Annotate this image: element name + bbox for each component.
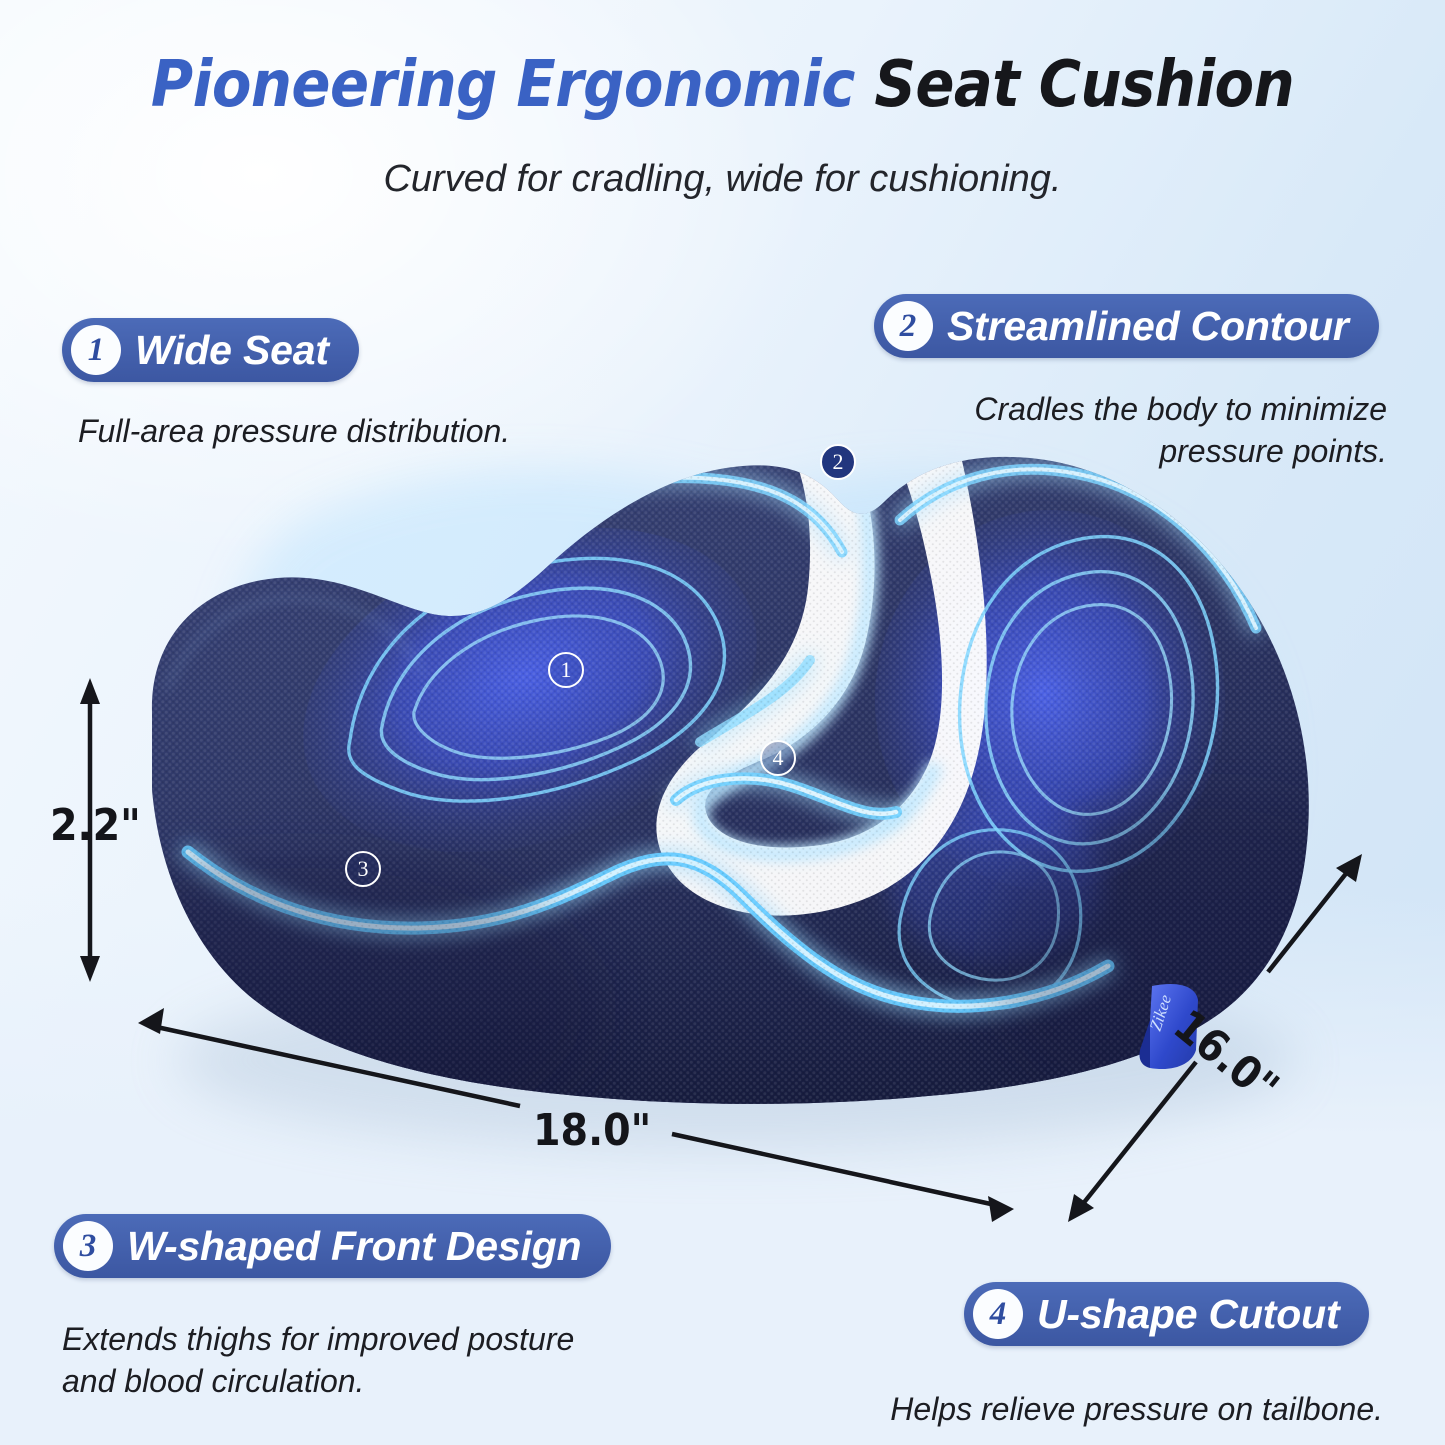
product-marker-4: 4	[760, 740, 796, 776]
page-subtitle: Curved for cradling, wide for cushioning…	[0, 158, 1445, 201]
feature-badge-1[interactable]: 1 Wide Seat	[62, 318, 359, 382]
feature-description-4: Helps relieve pressure on tailbone.	[890, 1388, 1383, 1430]
feature-badge-4[interactable]: 4 U-shape Cutout	[964, 1282, 1369, 1346]
width-dimension-label: 18.0"	[533, 1105, 651, 1156]
feature-label-1: Wide Seat	[135, 327, 329, 374]
feature-number-2: 2	[883, 301, 933, 351]
feature-number-4: 4	[973, 1289, 1023, 1339]
feature-description-3: Extends thighs for improved posture and …	[62, 1318, 574, 1402]
feature-description-2: Cradles the body to minimize pressure po…	[974, 388, 1387, 472]
feature-description-1: Full-area pressure distribution.	[78, 410, 510, 452]
feature-number-1: 1	[71, 325, 121, 375]
feature-number-3: 3	[63, 1221, 113, 1271]
product-marker-1: 1	[548, 652, 584, 688]
product-marker-3: 3	[345, 851, 381, 887]
feature-label-2: Streamlined Contour	[947, 303, 1349, 350]
height-dimension-label: 2.2"	[50, 800, 141, 851]
page-title-rest: Seat Cushion	[855, 48, 1294, 122]
page-title: Pioneering Ergonomic Seat Cushion	[0, 52, 1445, 119]
feature-label-3: W-shaped Front Design	[127, 1223, 581, 1270]
product-marker-2: 2	[820, 444, 856, 480]
infographic-page: Zikee 1 2 3 4 2.2"	[0, 0, 1445, 1445]
page-title-highlight: Pioneering Ergonomic	[151, 48, 855, 122]
feature-badge-3[interactable]: 3 W-shaped Front Design	[54, 1214, 611, 1278]
feature-badge-2[interactable]: 2 Streamlined Contour	[874, 294, 1379, 358]
feature-label-4: U-shape Cutout	[1037, 1291, 1339, 1338]
